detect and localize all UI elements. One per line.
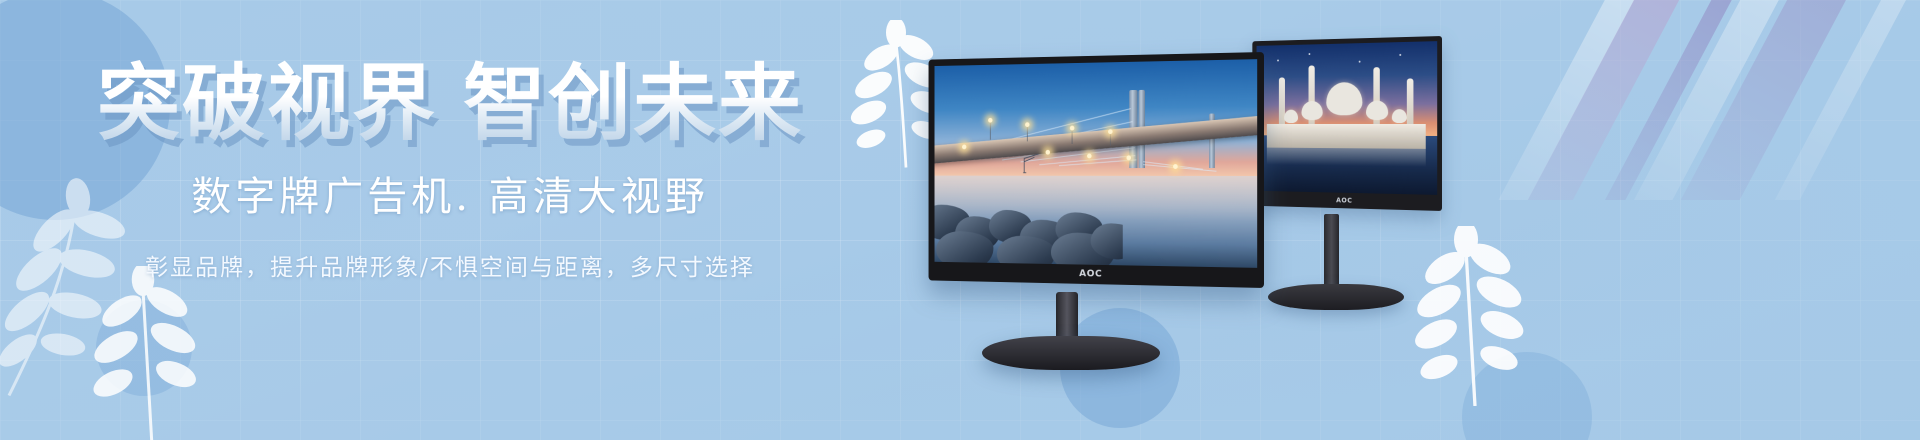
monitor-front-screen [935,59,1258,268]
aoc-logo-front: AOC [1079,268,1102,279]
headline-part-2: 智创未来 [463,55,803,152]
crane-silhouette [1015,152,1059,174]
banner-subtitle: 数字牌广告机. 高清大视野 [0,164,900,222]
promo-banner: 突破视界智创未来 数字牌广告机. 高清大视野 彰显品牌，提升品牌形象/不惧空间与… [0,0,1920,440]
monitor-front-stand-base [982,336,1160,370]
fern-leaf-icon-left-small [74,266,224,440]
aoc-logo-back: AOC [1336,196,1352,204]
product-monitor-front: AOC [896,52,1296,382]
monitor-front-panel: AOC [929,52,1264,288]
banner-headline: 突破视界智创未来 [0,60,900,148]
banner-tagline: 彰显品牌，提升品牌形象/不惧空间与距离，多尺寸选择 [0,248,900,282]
banner-text-block: 突破视界智创未来 数字牌广告机. 高清大视野 彰显品牌，提升品牌形象/不惧空间与… [0,60,900,282]
monitor-back-stand-neck [1324,214,1339,288]
monitor-front-stand-neck [1056,292,1078,340]
foreground-rocks [935,187,1124,267]
headline-part-1: 突破视界 [97,55,437,152]
